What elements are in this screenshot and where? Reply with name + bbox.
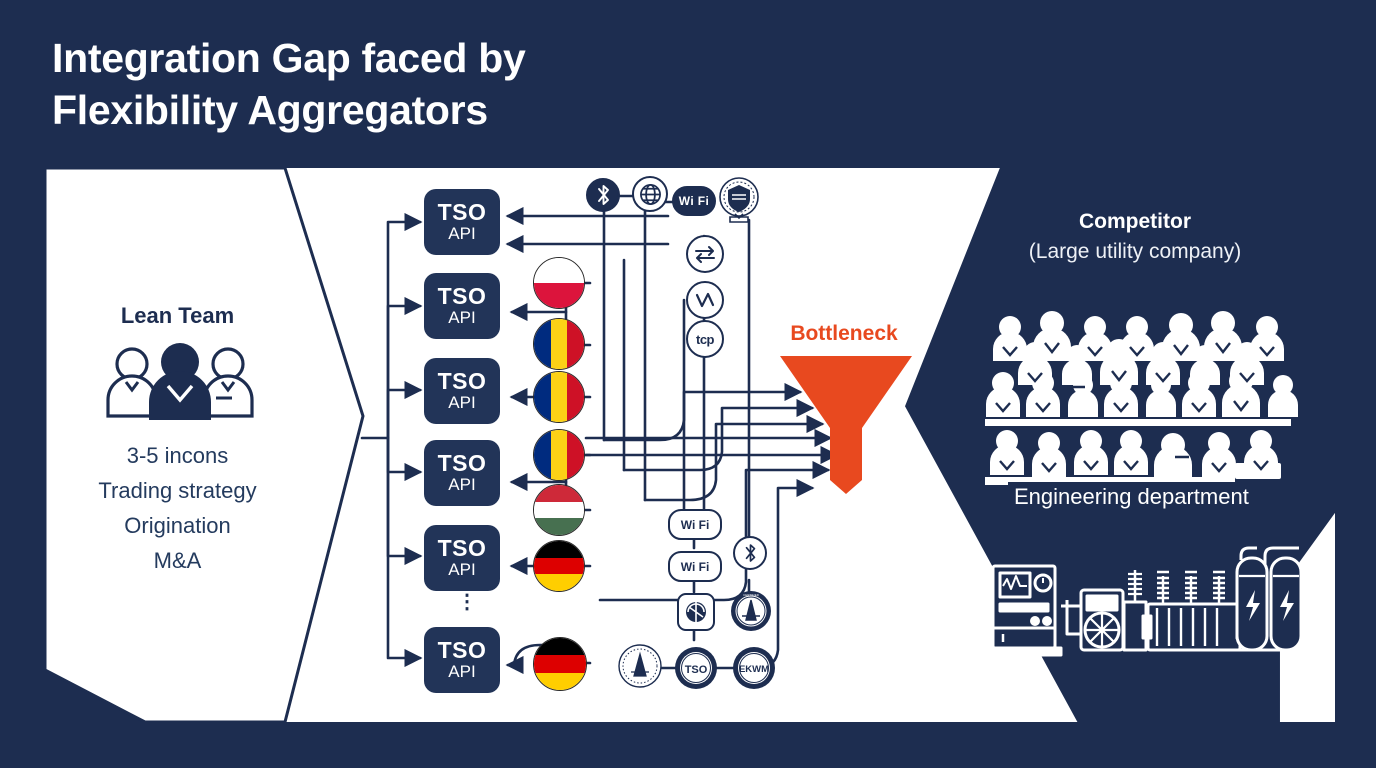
antenna-seal-icon[interactable]: CERTIFIED [730,590,772,632]
bluetooth-icon[interactable] [733,536,767,570]
tso-api-box[interactable]: TSO API [424,358,500,424]
svg-text:CERTIFIED: CERTIFIED [743,593,760,597]
ekwm-seal-icon[interactable]: EKWM [731,645,777,691]
exchange-arrows-icon[interactable] [686,235,724,273]
broadcast-seal-icon[interactable] [617,643,663,689]
tso-box-subtitle: API [448,560,475,580]
wifi-label: Wi Fi [681,518,710,532]
tso-box-subtitle: API [448,224,475,244]
certification-seal-icon[interactable] [716,176,762,224]
tso-box-subtitle: API [448,308,475,328]
germany-flag [533,540,585,592]
tso-api-box[interactable]: TSO API [424,525,500,591]
poland-flag [533,257,585,309]
tso-box-title: TSO [438,536,487,560]
tcp-icon[interactable]: tcp [686,320,724,358]
tso-api-box[interactable]: TSO API [424,189,500,255]
vertical-ellipsis: ⋮ [457,598,467,607]
germany-flag [533,637,587,691]
competitor-title: Competitor [965,210,1305,234]
romania-flag [533,429,585,481]
tcp-label: tcp [696,332,714,347]
funnel-icon [776,352,916,494]
tso-seal-label: TSO [685,664,708,676]
slide-root: Integration Gap faced by Flexibility Agg… [0,0,1376,768]
hungary-flag [533,484,585,536]
tso-box-subtitle: API [448,662,475,682]
tso-seal-icon[interactable]: TSO [673,645,719,691]
wifi-label: Wi Fi [681,560,710,574]
tso-box-subtitle: API [448,393,475,413]
wifi-label: Wi Fi [679,194,710,208]
tso-api-box[interactable]: TSO API [424,440,500,506]
tso-box-title: TSO [438,451,487,475]
competitor-subtitle: (Large utility company) [955,240,1315,264]
wifi-icon[interactable]: Wi Fi [668,551,722,582]
industrial-equipment-icon [985,528,1305,678]
tso-box-title: TSO [438,284,487,308]
engineering-department-label: Engineering department [1008,482,1255,512]
tso-box-subtitle: API [448,475,475,495]
signal-wave-icon[interactable] [686,281,724,319]
tso-api-box[interactable]: TSO API [424,273,500,339]
romania-flag [533,318,585,370]
globe-icon[interactable] [632,176,668,212]
tso-box-title: TSO [438,638,487,662]
romania-flag [533,371,585,423]
wifi-icon[interactable]: Wi Fi [672,186,716,216]
tso-api-box[interactable]: TSO API [424,627,500,693]
wifi-icon[interactable]: Wi Fi [668,509,722,540]
ekwm-seal-label: EKWM [739,664,769,675]
crowd-of-people-icon [985,305,1305,485]
tso-box-title: TSO [438,200,487,224]
bluetooth-icon[interactable] [586,178,620,212]
satellite-dish-icon[interactable] [677,593,715,631]
tso-box-title: TSO [438,369,487,393]
bottleneck-label: Bottleneck [771,322,917,346]
